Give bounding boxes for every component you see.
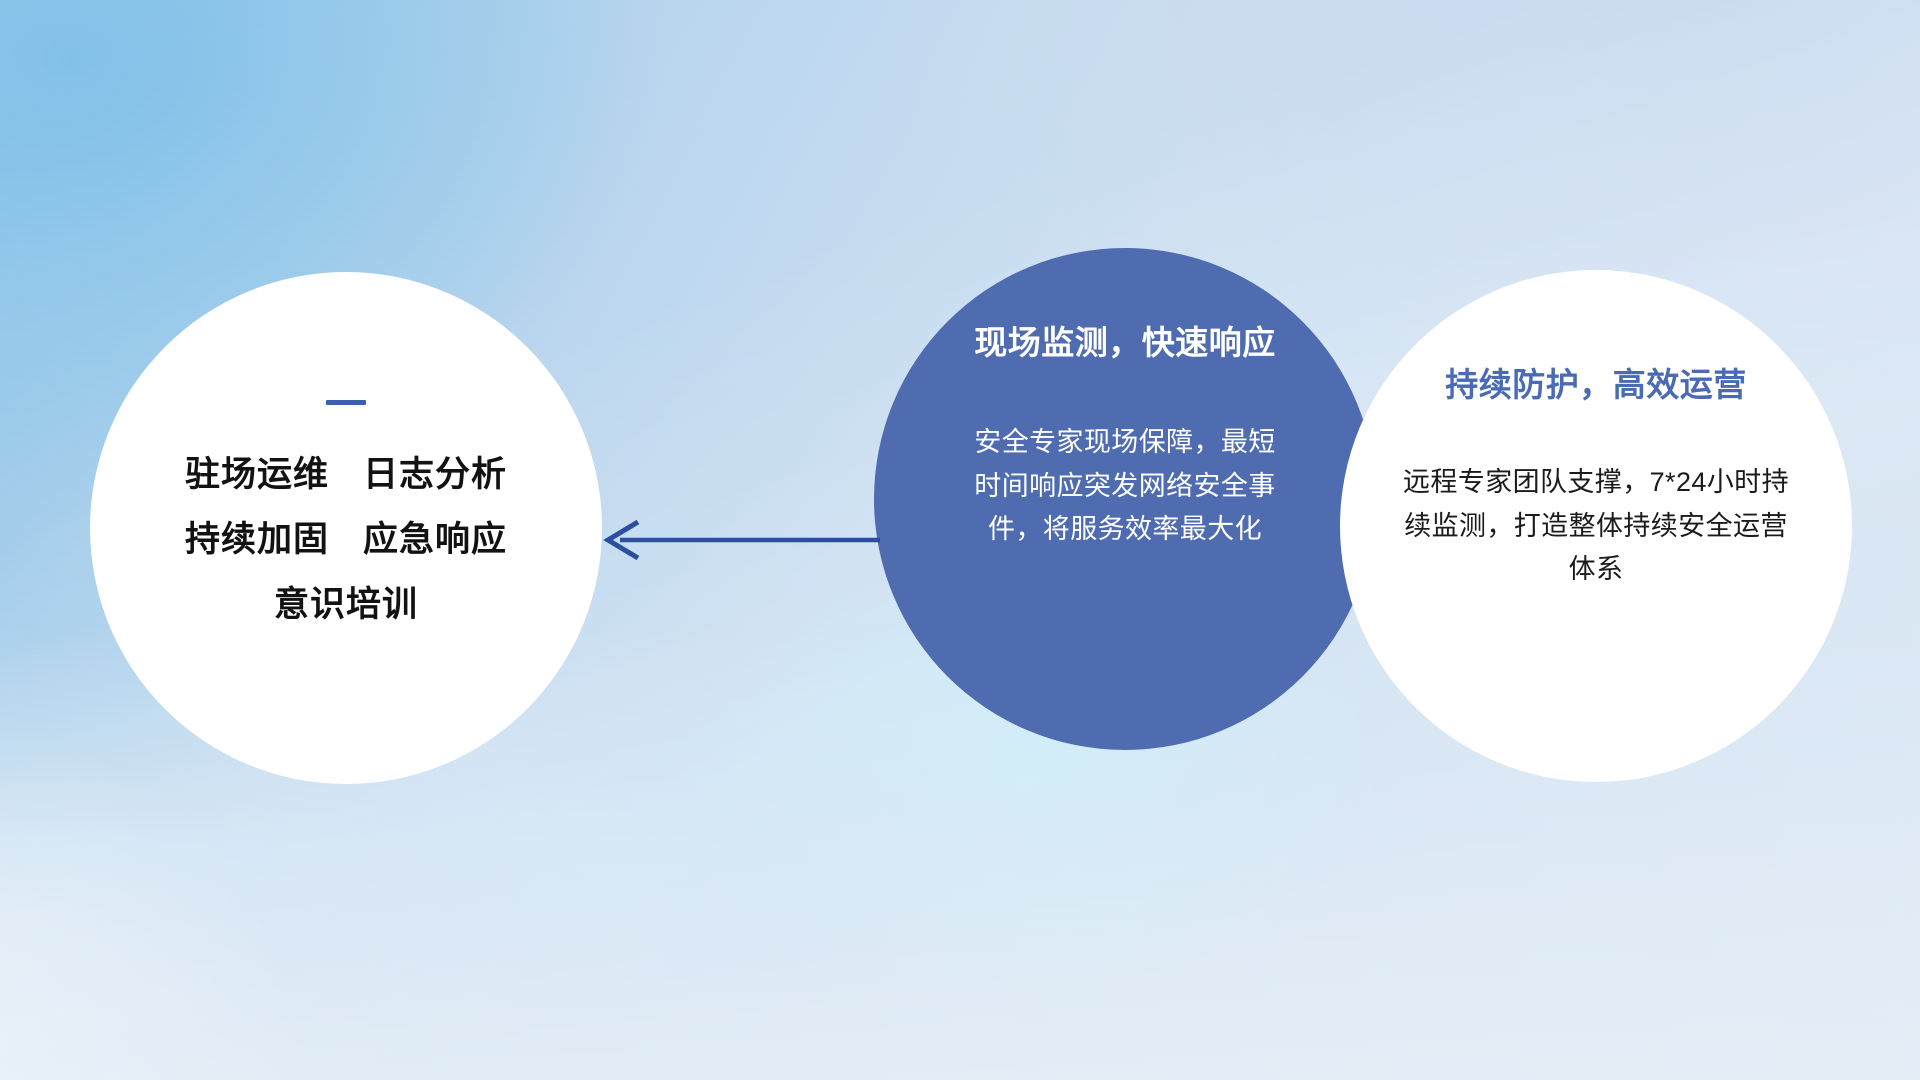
onsite-monitoring-circle[interactable]: 现场监测，快速响应 安全专家现场保障，最短时间响应突发网络安全事件，将服务效率最…	[874, 248, 1376, 750]
left-keywords-circle[interactable]: 驻场运维 日志分析 持续加固 应急响应 意识培训	[90, 272, 602, 784]
keyword-item: 持续加固	[185, 522, 329, 557]
keyword-item: 意识培训	[274, 587, 418, 622]
keyword-item: 驻场运维	[185, 457, 329, 492]
blue-dash-accent	[326, 400, 366, 405]
keyword-list: 驻场运维 日志分析 持续加固 应急响应 意识培训	[185, 457, 507, 622]
middle-circle-content: 现场监测，快速响应 安全专家现场保障，最短时间响应突发网络安全事件，将服务效率最…	[874, 248, 1376, 750]
keyword-item: 应急响应	[363, 522, 507, 557]
middle-card-title: 现场监测，快速响应	[974, 326, 1276, 359]
keyword-row: 意识培训	[274, 587, 418, 622]
slide-canvas: 驻场运维 日志分析 持续加固 应急响应 意识培训 现场监测，快速响应 安全专家现…	[0, 0, 1920, 1080]
right-card-title: 持续防护，高效运营	[1445, 368, 1747, 401]
middle-card-body: 安全专家现场保障，最短时间响应突发网络安全事件，将服务效率最大化	[970, 421, 1280, 552]
continuous-protection-circle[interactable]: 持续防护，高效运营 远程专家团队支撑，7*24小时持续监测，打造整体持续安全运营…	[1340, 270, 1852, 782]
keyword-item: 日志分析	[363, 457, 507, 492]
right-circle-content: 持续防护，高效运营 远程专家团队支撑，7*24小时持续监测，打造整体持续安全运营…	[1340, 270, 1852, 782]
arrow-left-icon	[596, 512, 882, 568]
left-circle-content: 驻场运维 日志分析 持续加固 应急响应 意识培训	[90, 272, 602, 784]
keyword-row: 驻场运维 日志分析	[185, 457, 507, 492]
keyword-row: 持续加固 应急响应	[185, 522, 507, 557]
right-card-body: 远程专家团队支撑，7*24小时持续监测，打造整体持续安全运营体系	[1394, 461, 1798, 592]
